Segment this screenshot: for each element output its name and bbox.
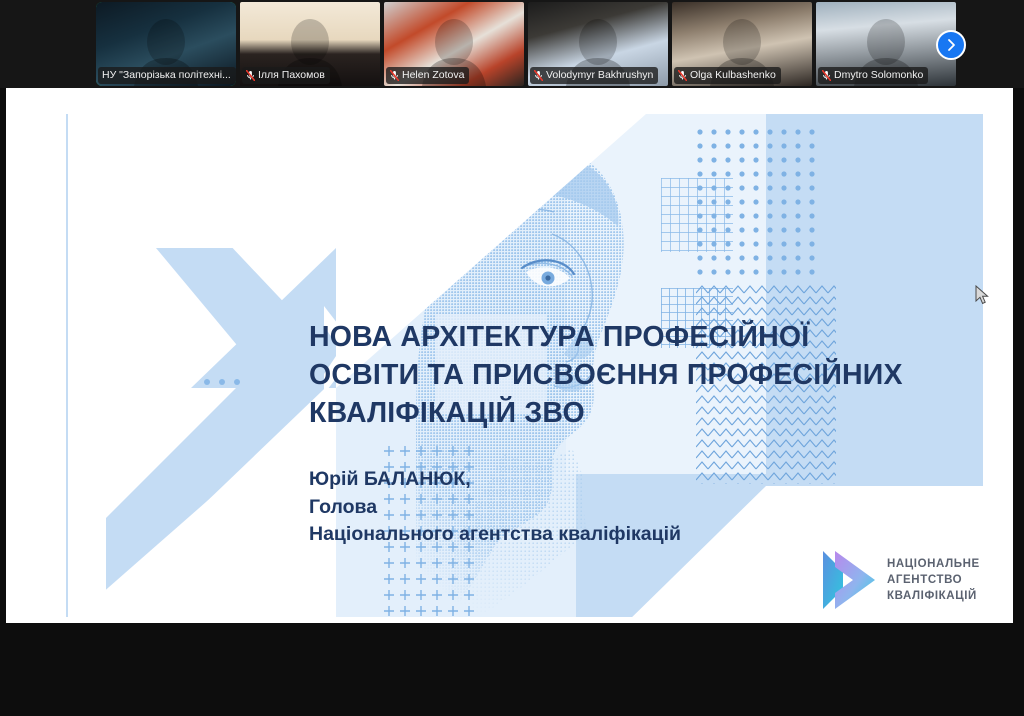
participant-nameplate: Volodymyr Bakhrushyn (530, 67, 658, 84)
filmstrip-next-page-button[interactable] (936, 30, 966, 60)
microphone-muted-icon (678, 70, 687, 81)
texture-dash-swatch (68, 486, 318, 623)
participant-tile[interactable]: Dmytro Solomonko (816, 2, 956, 86)
microphone-muted-icon (246, 70, 255, 81)
organization-logo: НАЦІОНАЛЬНЕ АГЕНТСТВО КВАЛІФІКАЦІЙ (821, 545, 1001, 615)
slide-subtitle: Юрій БАЛАНЮК, Голова Національного агент… (309, 466, 929, 549)
presentation-slide: НОВА АРХІТЕКТУРА ПРОФЕСІЙНОЇ ОСВІТИ ТА П… (6, 88, 1013, 623)
participant-nameplate: Ілля Пахомов (242, 67, 330, 84)
participant-name: Helen Zotova (402, 69, 464, 82)
share-chrome-left (0, 176, 6, 716)
slide-title: НОВА АРХІТЕКТУРА ПРОФЕСІЙНОЇ ОСВІТИ ТА П… (309, 318, 969, 432)
chevron-right-icon (943, 37, 959, 53)
participant-tile[interactable]: Olga Kulbashenko (672, 2, 812, 86)
logo-text: НАЦІОНАЛЬНЕ АГЕНТСТВО КВАЛІФІКАЦІЙ (887, 556, 980, 604)
participant-nameplate: НУ "Запорізька політехні... (98, 67, 236, 84)
texture-dot-swatch (696, 128, 816, 278)
microphone-muted-icon (390, 70, 399, 81)
participant-name: Volodymyr Bakhrushyn (546, 69, 653, 82)
participant-filmstrip: НУ "Запорізька політехні...Ілля ПахомовH… (0, 0, 1024, 88)
double-triangle-play-icon (821, 549, 877, 611)
participant-tile[interactable]: НУ "Запорізька політехні... (96, 2, 236, 86)
texture-dot-swatch-2 (68, 378, 248, 488)
participant-name: НУ "Запорізька політехні... (102, 69, 231, 82)
microphone-muted-icon (822, 70, 831, 81)
participant-name: Olga Kulbashenko (690, 69, 776, 82)
participant-tile[interactable]: Ілля Пахомов (240, 2, 380, 86)
participant-tile[interactable]: Helen Zotova (384, 2, 524, 86)
participant-name: Ілля Пахомов (258, 69, 325, 82)
participant-tile[interactable]: Volodymyr Bakhrushyn (528, 2, 668, 86)
participant-nameplate: Olga Kulbashenko (674, 67, 781, 84)
participant-nameplate: Dmytro Solomonko (818, 67, 928, 84)
mouse-cursor-icon (975, 285, 989, 305)
share-chrome-right (1013, 176, 1024, 716)
shared-screen-area[interactable]: НОВА АРХІТЕКТУРА ПРОФЕСІЙНОЇ ОСВІТИ ТА П… (0, 88, 1024, 628)
microphone-muted-icon (534, 70, 543, 81)
participant-tile-list: НУ "Запорізька політехні...Ілля ПахомовH… (96, 2, 956, 86)
participant-nameplate: Helen Zotova (386, 67, 469, 84)
window-chrome-bottom (0, 623, 1024, 628)
participant-name: Dmytro Solomonko (834, 69, 923, 82)
